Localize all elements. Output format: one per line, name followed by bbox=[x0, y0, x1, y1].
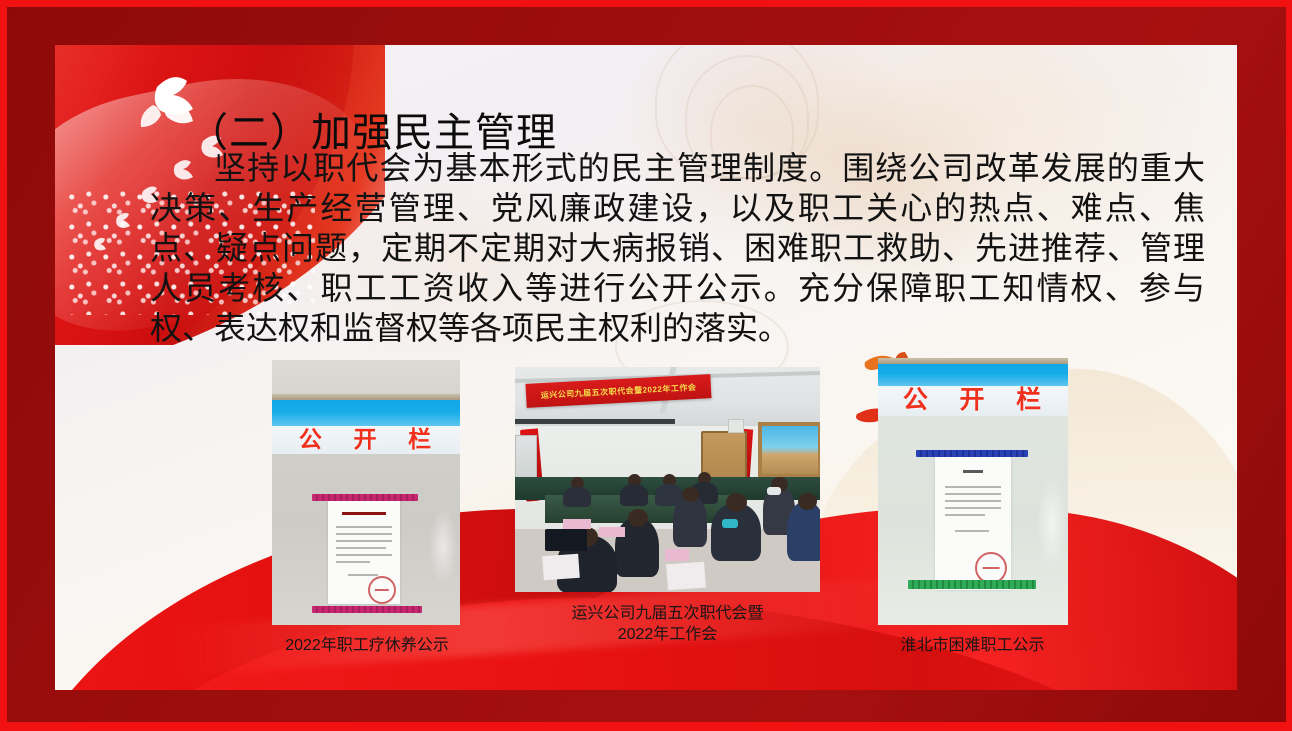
photo-employee-recuperation-notice: 公 开 栏 bbox=[272, 360, 460, 625]
photo-caption-2: 运兴公司九届五次职代会暨 2022年工作会 bbox=[530, 603, 805, 645]
photo3-notice-line bbox=[945, 500, 1001, 502]
board-label-char-3: 栏 bbox=[408, 420, 433, 454]
photo3-notice-title-line bbox=[963, 470, 983, 473]
photo3-strip-top bbox=[916, 450, 1028, 457]
board-label-char-2: 开 bbox=[353, 420, 378, 454]
photo2-attendee-head bbox=[726, 493, 747, 512]
photo2-briefcase bbox=[545, 529, 587, 551]
photo-huaibei-needy-workers-notice: 公 开 栏 bbox=[878, 358, 1068, 625]
photo3-notice-line bbox=[945, 486, 1001, 488]
photo1-notice-line bbox=[336, 554, 392, 556]
board-label-char-2: 开 bbox=[959, 380, 986, 416]
photo2-attendee-head bbox=[628, 509, 648, 527]
photo1-strip-top bbox=[312, 494, 418, 501]
photo1-notice-line bbox=[336, 540, 392, 542]
photo3-notice-paper bbox=[935, 456, 1011, 590]
board-label-char-1: 公 bbox=[903, 380, 930, 416]
frame-edge-top bbox=[0, 0, 1292, 7]
board-label-char-3: 栏 bbox=[1016, 380, 1043, 416]
photo1-glare bbox=[430, 510, 456, 582]
photo1-notice-title-line bbox=[342, 512, 386, 515]
frame-edge-left bbox=[0, 0, 7, 731]
photo2-attendee bbox=[673, 495, 707, 547]
photo2-window bbox=[758, 422, 820, 478]
photo2-document bbox=[542, 554, 580, 580]
photo1-notice-line bbox=[348, 574, 378, 576]
photo3-notice-line bbox=[945, 507, 1001, 509]
photo2-face-mask bbox=[767, 487, 781, 495]
photo1-strip-bottom bbox=[312, 606, 422, 613]
slide-body-text: 坚持以职代会为基本形式的民主管理制度。围绕公司改革发展的重大决策、生产经营管理、… bbox=[150, 148, 1205, 348]
photo1-notice-line bbox=[336, 526, 392, 528]
photo2-wall-unit bbox=[728, 419, 744, 433]
slide-content-area: （二）加强民主管理 坚持以职代会为基本形式的民主管理制度。围绕公司改革发展的重大… bbox=[55, 45, 1237, 690]
photo2-pink-folder bbox=[665, 549, 689, 561]
frame-edge-right bbox=[1286, 0, 1292, 731]
photo2-head-person-body bbox=[620, 484, 648, 506]
photo1-notice-paper bbox=[328, 500, 400, 604]
photo3-notice-line bbox=[945, 514, 985, 516]
photo2-document bbox=[666, 562, 706, 591]
photo2-face-mask bbox=[722, 519, 738, 528]
photo2-head-person-body bbox=[563, 487, 591, 507]
photo2-ceiling-rail bbox=[515, 419, 675, 424]
photo3-board-label: 公 开 栏 bbox=[878, 382, 1068, 414]
photo-caption-1: 2022年职工疗休养公示 bbox=[227, 635, 507, 656]
photo3-notice-line bbox=[945, 493, 1001, 495]
photo1-notice-line bbox=[336, 533, 392, 535]
photo-caption-3: 淮北市困难职工公示 bbox=[845, 635, 1100, 656]
photo1-board-label: 公 开 栏 bbox=[272, 422, 460, 452]
photo1-notice-line bbox=[336, 547, 386, 549]
photo-workers-congress-meeting: 运兴公司九届五次职代会暨2022年工作会 bbox=[515, 367, 820, 592]
photo3-notice-line bbox=[955, 530, 989, 532]
frame-edge-bottom bbox=[0, 722, 1292, 731]
photo3-strip-bottom bbox=[908, 580, 1036, 589]
photo2-pink-folder bbox=[563, 519, 591, 529]
photo2-attendee-head bbox=[682, 487, 699, 502]
photo2-attendee-head bbox=[798, 493, 817, 510]
presentation-slide-frame: （二）加强民主管理 坚持以职代会为基本形式的民主管理制度。围绕公司改革发展的重大… bbox=[0, 0, 1292, 731]
photo2-attendee bbox=[787, 501, 820, 561]
photo1-red-seal-icon bbox=[368, 576, 396, 604]
board-label-char-1: 公 bbox=[299, 420, 324, 454]
photo1-notice-line bbox=[336, 561, 370, 563]
photo2-pink-folder bbox=[599, 527, 625, 537]
photo3-glare bbox=[1038, 478, 1066, 568]
